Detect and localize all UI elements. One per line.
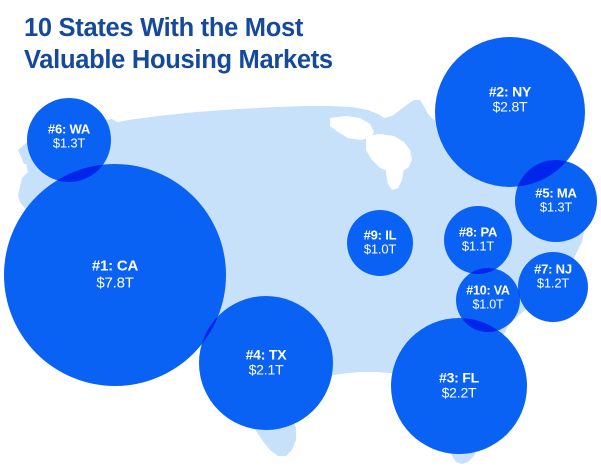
bubble-ca[interactable] — [4, 164, 226, 386]
infographic-canvas: 10 States With the Most Valuable Housing… — [0, 0, 601, 476]
bubble-pa[interactable] — [444, 206, 512, 274]
bubble-ma[interactable] — [515, 160, 597, 242]
bubble-il[interactable] — [347, 210, 413, 276]
bubble-tx[interactable] — [199, 296, 333, 430]
bubble-nj[interactable] — [518, 252, 588, 322]
page-title: 10 States With the Most Valuable Housing… — [24, 12, 564, 76]
bubble-wa[interactable] — [27, 98, 111, 182]
bubble-fl[interactable] — [391, 318, 527, 454]
bubble-va[interactable] — [456, 268, 520, 332]
